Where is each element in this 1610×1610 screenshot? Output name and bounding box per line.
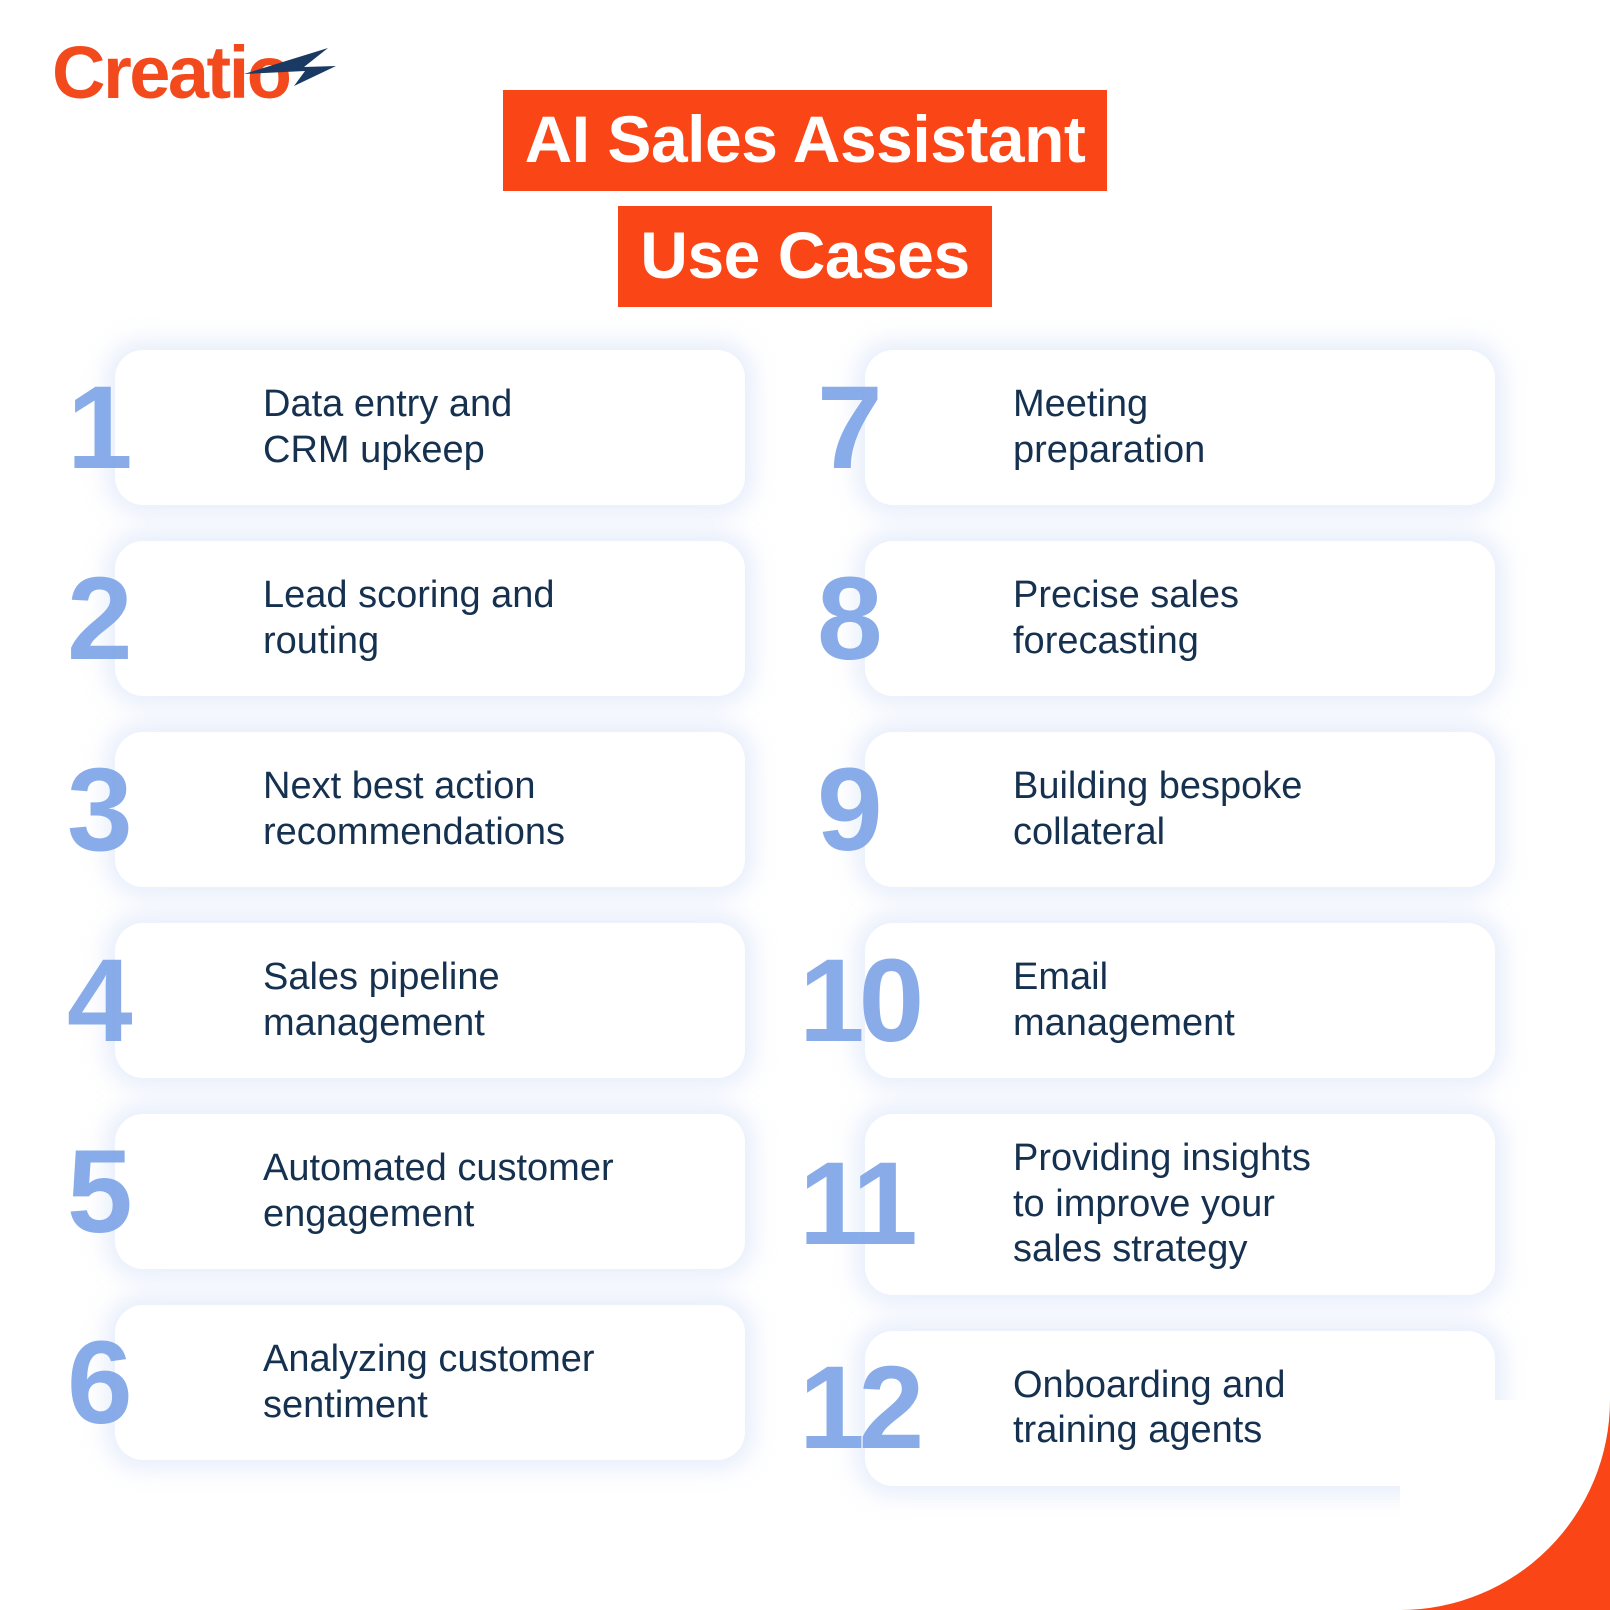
use-case-card-1[interactable]: 1 Data entry and CRM upkeep — [115, 350, 745, 505]
use-case-column-left: 1 Data entry and CRM upkeep 2 Lead scori… — [115, 350, 745, 1486]
infographic-poster: Creatio AI Sales Assistant Use Cases 1 D… — [0, 0, 1610, 1610]
use-case-number-11: 11 — [799, 1145, 912, 1263]
use-case-number-10: 10 — [799, 942, 918, 1060]
use-case-card-9[interactable]: 9 Building bespoke collateral — [865, 732, 1495, 887]
use-case-number-2: 2 — [67, 560, 129, 678]
use-case-number-1: 1 — [67, 369, 129, 487]
use-case-grid: 1 Data entry and CRM upkeep 2 Lead scori… — [0, 350, 1610, 1486]
use-case-card-7[interactable]: 7 Meeting preparation — [865, 350, 1495, 505]
use-case-number-9: 9 — [817, 751, 879, 869]
use-case-column-right: 7 Meeting preparation 8 Precise sales fo… — [865, 350, 1495, 1486]
use-case-number-8: 8 — [817, 560, 879, 678]
use-case-number-3: 3 — [67, 751, 129, 869]
use-case-label-2: Lead scoring and routing — [263, 573, 555, 664]
poster-title: AI Sales Assistant Use Cases — [0, 90, 1610, 307]
use-case-number-5: 5 — [67, 1133, 129, 1251]
logo-swoosh-icon — [242, 44, 338, 88]
use-case-label-3: Next best action recommendations — [263, 764, 565, 855]
use-case-card-10[interactable]: 10 Email management — [865, 923, 1495, 1078]
use-case-number-12: 12 — [799, 1349, 918, 1467]
use-case-label-8: Precise sales forecasting — [1013, 573, 1239, 664]
use-case-card-5[interactable]: 5 Automated customer engagement — [115, 1114, 745, 1269]
use-case-number-7: 7 — [817, 369, 879, 487]
title-line-2: Use Cases — [618, 206, 991, 307]
title-line-1: AI Sales Assistant — [503, 90, 1108, 191]
use-case-card-11[interactable]: 11 Providing insights to improve your sa… — [865, 1114, 1495, 1295]
use-case-label-7: Meeting preparation — [1013, 382, 1205, 473]
use-case-card-2[interactable]: 2 Lead scoring and routing — [115, 541, 745, 696]
use-case-label-11: Providing insights to improve your sales… — [1013, 1136, 1311, 1273]
use-case-number-4: 4 — [67, 942, 129, 1060]
use-case-card-6[interactable]: 6 Analyzing customer sentiment — [115, 1305, 745, 1460]
use-case-card-12[interactable]: 12 Onboarding and training agents — [865, 1331, 1495, 1486]
use-case-card-4[interactable]: 4 Sales pipeline management — [115, 923, 745, 1078]
use-case-label-9: Building bespoke collateral — [1013, 764, 1302, 855]
use-case-label-6: Analyzing customer sentiment — [263, 1337, 595, 1428]
use-case-card-8[interactable]: 8 Precise sales forecasting — [865, 541, 1495, 696]
use-case-label-1: Data entry and CRM upkeep — [263, 382, 512, 473]
use-case-label-4: Sales pipeline management — [263, 955, 500, 1046]
use-case-number-6: 6 — [67, 1324, 129, 1442]
use-case-label-12: Onboarding and training agents — [1013, 1363, 1286, 1454]
use-case-card-3[interactable]: 3 Next best action recommendations — [115, 732, 745, 887]
use-case-label-10: Email management — [1013, 955, 1235, 1046]
use-case-label-5: Automated customer engagement — [263, 1146, 614, 1237]
